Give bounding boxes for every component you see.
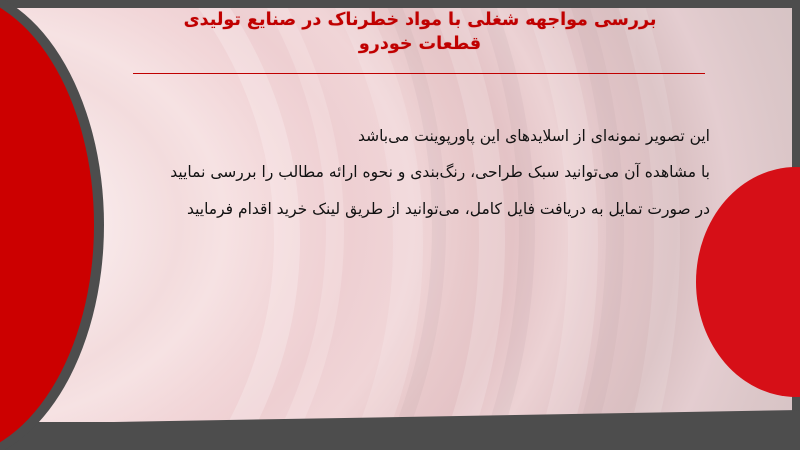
- title-divider-rule: [133, 73, 705, 74]
- slide-title-line-1: بررسی مواجهه شغلی با مواد خطرناک در صنای…: [120, 8, 720, 32]
- slide-title-line-2: قطعات خودرو: [120, 32, 720, 56]
- slide-title: بررسی مواجهه شغلی با مواد خطرناک در صنای…: [120, 8, 720, 56]
- slide-body-line-3: در صورت تمایل به دریافت فایل کامل، می‌تو…: [110, 191, 710, 227]
- slide-body-line-1: این تصویر نمونه‌ای از اسلایدهای این پاور…: [110, 118, 710, 154]
- slide-body-line-2: با مشاهده آن می‌توانید سبک طراحی، رنگ‌بن…: [110, 154, 710, 190]
- slide-body: این تصویر نمونه‌ای از اسلایدهای این پاور…: [110, 118, 710, 227]
- presentation-slide: بررسی مواجهه شغلی با مواد خطرناک در صنای…: [0, 0, 800, 450]
